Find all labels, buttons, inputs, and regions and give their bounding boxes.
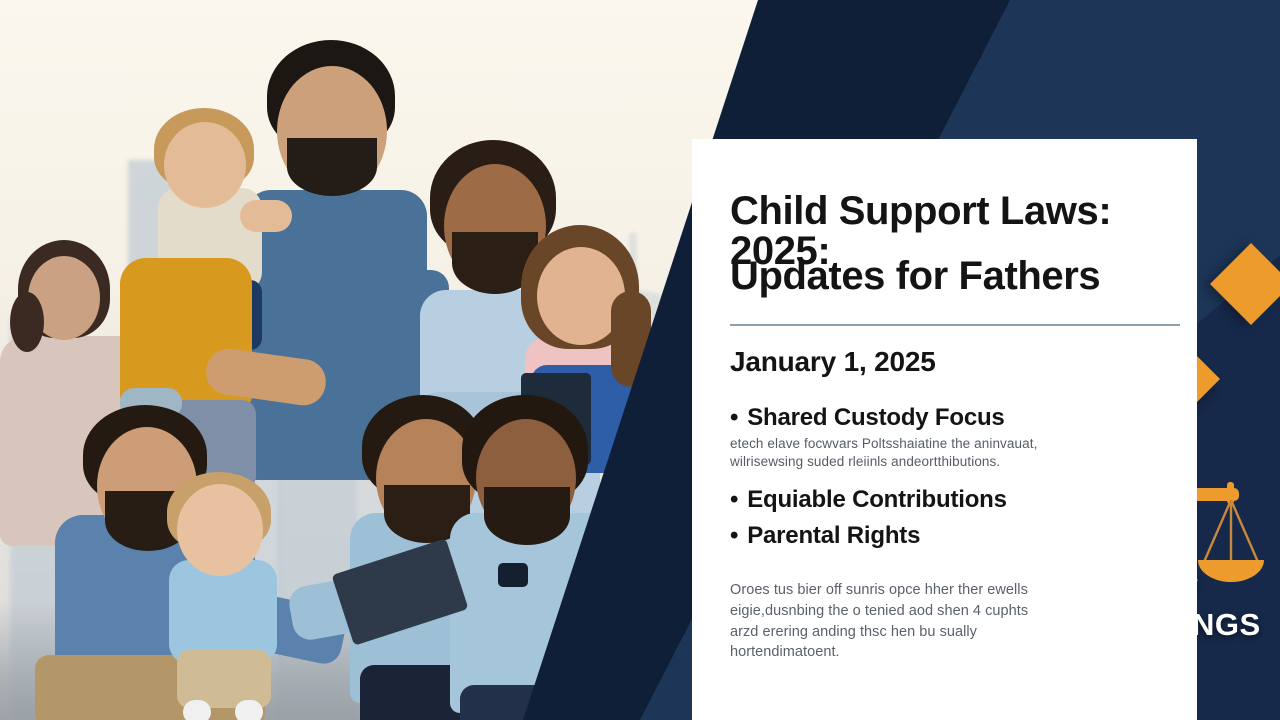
list-item: • Parental Rights [730,522,1163,550]
closing-paragraph: Oroes tus bier off sunris opce hher ther… [730,580,1030,662]
bullet-dot-icon: • [730,524,738,548]
page-title: Child Support Laws: 2025: Updates for Fa… [730,191,1163,298]
list-item: • Equiable Contributions [730,486,1163,514]
bullet-label: Equiable Contributions [747,486,1007,514]
bullet-subtext: etech elave focwvars Poltsshaiatine the … [730,435,1102,471]
bullet-label: Shared Custody Focus [747,404,1004,432]
bullet-dot-icon: • [730,406,738,430]
list-item: • Shared Custody Focus etech elave focwv… [730,404,1163,471]
title-line-1: Child Support Laws: [730,191,1163,233]
figure-toddler-front [155,472,300,720]
effective-date: January 1, 2025 [730,346,1163,378]
bullet-heading: • Equiable Contributions [730,486,1163,514]
bullet-list: • Shared Custody Focus etech elave focwv… [730,404,1163,551]
bullet-label: Parental Rights [747,522,920,550]
title-divider [730,324,1180,326]
content-card: Child Support Laws: 2025: Updates for Fa… [692,139,1197,720]
title-line-3: Updates for Fathers [730,256,1163,298]
bullet-heading: • Shared Custody Focus [730,404,1163,432]
bullet-dot-icon: • [730,488,738,512]
bullet-heading: • Parental Rights [730,522,1163,550]
wristwatch-icon [498,563,528,587]
poster-canvas: NEW BEGINNINGS Child Support Laws: 2025:… [0,0,1280,720]
